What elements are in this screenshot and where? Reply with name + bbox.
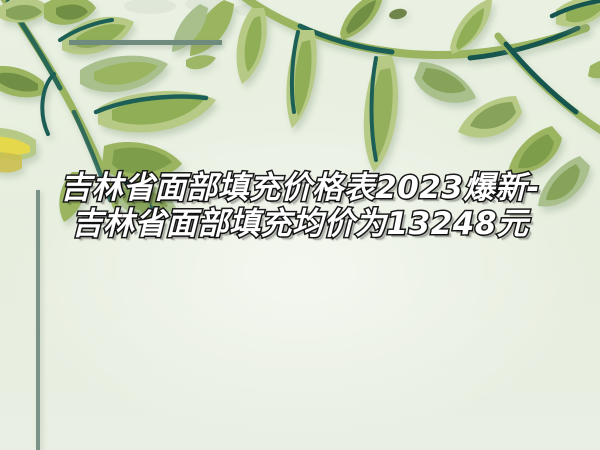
ghost-shapes <box>124 0 262 16</box>
vertical-rule <box>36 190 40 450</box>
poster-canvas: 吉林省面部填充价格表2023爆新-吉林省面部填充均价为13248元 <box>0 0 600 450</box>
horizontal-rule <box>69 40 222 45</box>
leaf-cluster-top-center <box>172 0 586 172</box>
page-title: 吉林省面部填充价格表2023爆新-吉林省面部填充均价为13248元 <box>50 170 550 242</box>
